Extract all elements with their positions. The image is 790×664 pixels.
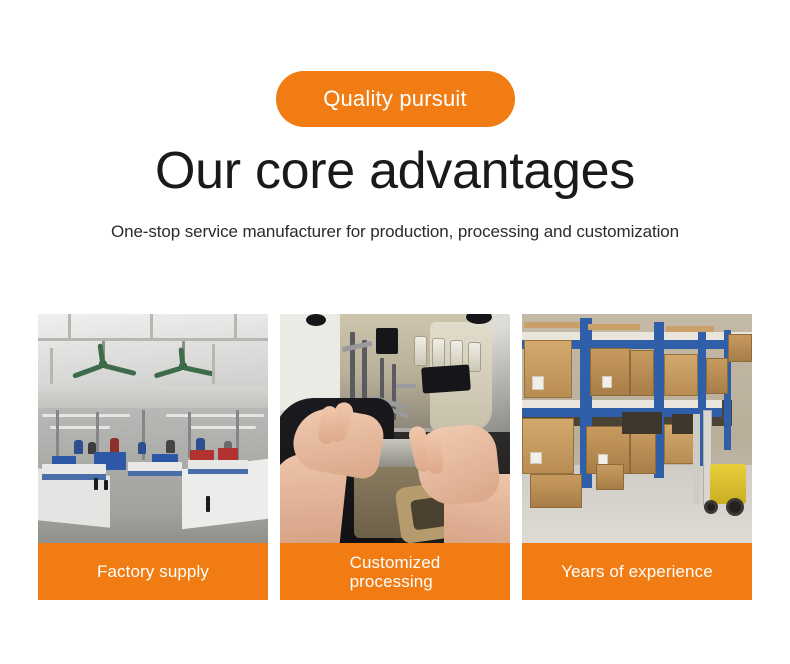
card-caption-bar: Years of experience [522,543,752,600]
advantage-card-factory-supply[interactable]: Factory supply [38,314,268,600]
quality-pursuit-badge: Quality pursuit [276,71,515,127]
warehouse-racking-photo [522,314,752,543]
card-caption-bar: Customized processing [280,543,510,600]
sewing-machine-photo [280,314,510,543]
advantage-card-customized-processing[interactable]: Customized processing [280,314,510,600]
factory-floor-photo [38,314,268,543]
page-header: Quality pursuit Our core advantages One-… [0,0,790,242]
page-title: Our core advantages [0,127,790,202]
badge-row: Quality pursuit [0,0,790,127]
card-caption-text: Years of experience [561,562,713,581]
card-caption-text: Customized processing [350,553,441,591]
advantage-card-list: Factory supply [38,314,752,600]
card-caption-text: Factory supply [97,562,209,581]
card-caption-bar: Factory supply [38,543,268,600]
advantage-card-years-of-experience[interactable]: Years of experience [522,314,752,600]
page-subtitle: One-stop service manufacturer for produc… [0,202,790,242]
